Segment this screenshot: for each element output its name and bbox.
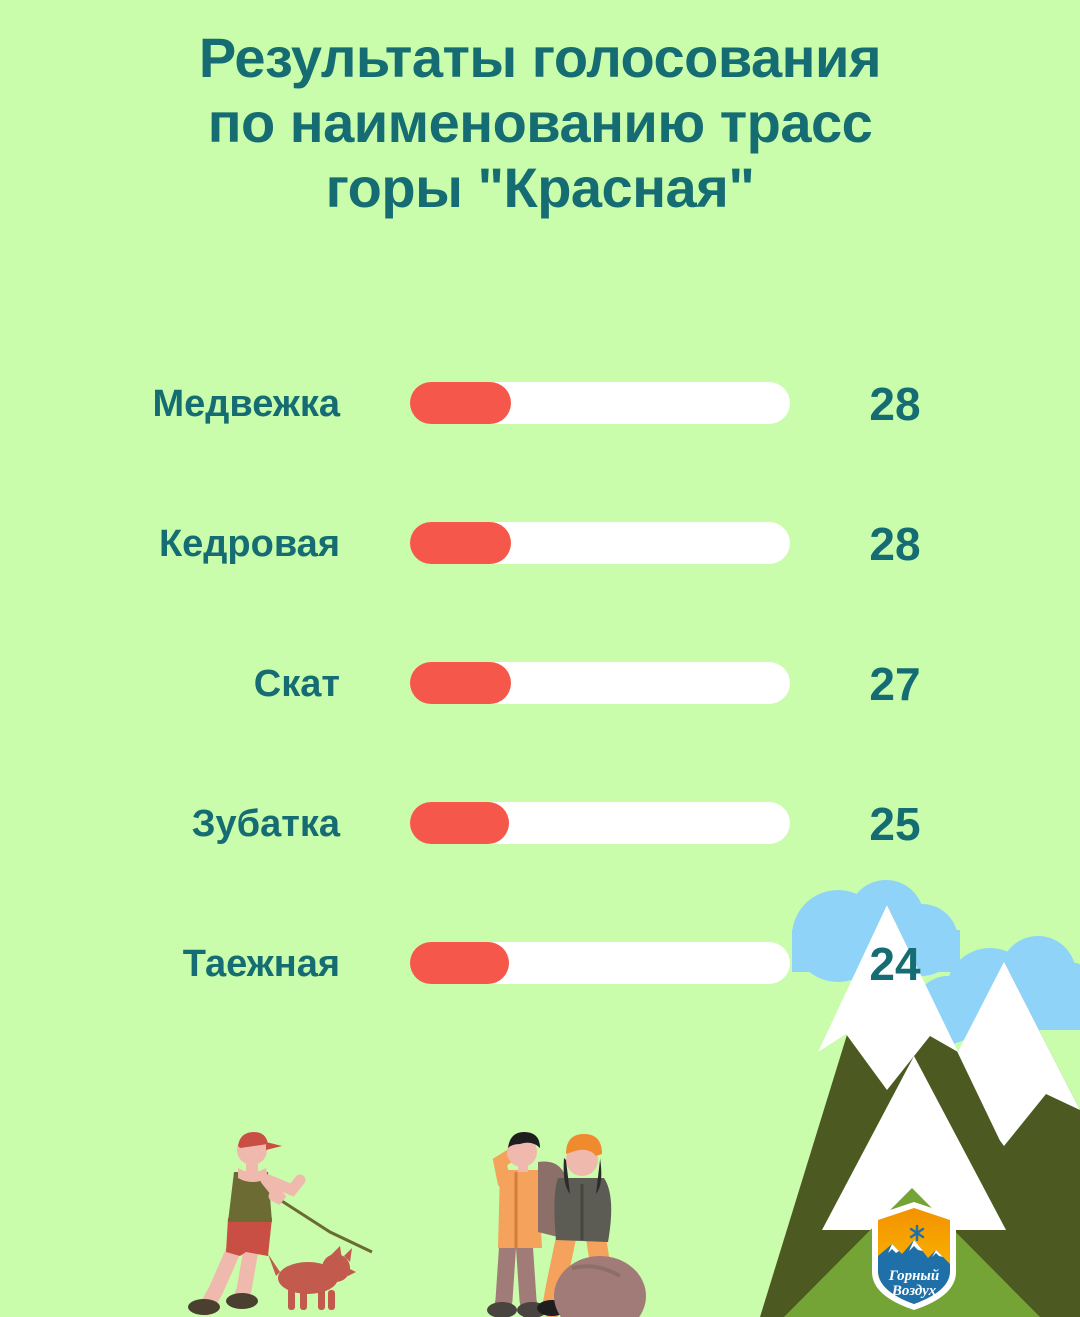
row-label: Таежная: [40, 932, 340, 996]
logo-line2: Воздух: [891, 1283, 937, 1299]
bar-fill: [410, 942, 509, 984]
row-value: 28: [830, 512, 960, 576]
row-label: Зубатка: [40, 792, 340, 856]
chart-row: Медвежка 28: [0, 372, 1080, 512]
row-label: Медвежка: [40, 372, 340, 436]
chart-row: Зубатка 25: [0, 792, 1080, 932]
page-title: Результаты голосования по наименованию т…: [0, 26, 1080, 221]
row-label: Кедровая: [40, 512, 340, 576]
bar-fill: [410, 662, 511, 704]
bar-track: [410, 942, 790, 984]
row-value: 25: [830, 792, 960, 856]
chart-row: Кедровая 28: [0, 512, 1080, 652]
bar-fill: [410, 802, 509, 844]
bar-track: [410, 662, 790, 704]
bar-fill: [410, 522, 511, 564]
bar-track: [410, 802, 790, 844]
bar-fill: [410, 382, 511, 424]
row-value: 24: [830, 932, 960, 996]
bar-track: [410, 382, 790, 424]
bar-track: [410, 522, 790, 564]
two-hikers-icon: [487, 1132, 646, 1317]
vote-results-chart: Медвежка 28 Кедровая 28 Скат 27 Зубатка: [0, 372, 1080, 1072]
infographic-poster: Результаты голосования по наименованию т…: [0, 0, 1080, 1317]
row-value: 28: [830, 372, 960, 436]
row-value: 27: [830, 652, 960, 716]
person-walking-dog-icon: [188, 1132, 372, 1315]
chart-row: Таежная 24: [0, 932, 1080, 1072]
chart-row: Скат 27: [0, 652, 1080, 792]
logo-line1: Горный: [888, 1268, 939, 1284]
row-label: Скат: [40, 652, 340, 716]
gorny-vozduh-logo: Горный Воздух: [866, 1200, 962, 1312]
